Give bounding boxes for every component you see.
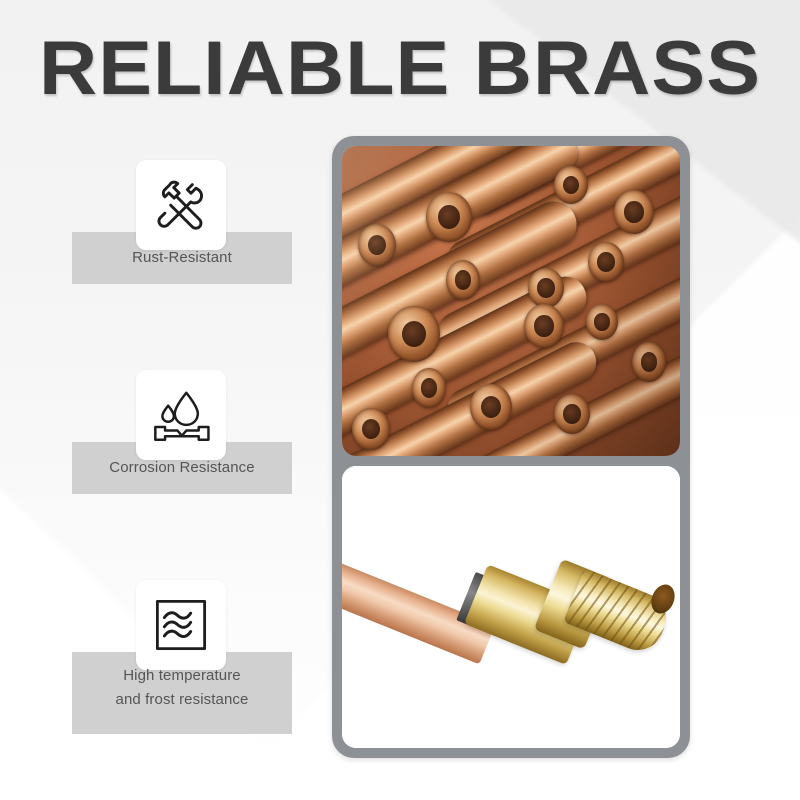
- hammer-wrench-icon: [152, 176, 210, 234]
- feature-icon-tile: [136, 580, 226, 670]
- feature-label-text: High temperature and frost resistance: [72, 664, 292, 712]
- feature-list: Rust-Resistant Corrosio: [0, 150, 320, 750]
- feature-label-text: Rust-Resistant: [72, 246, 292, 270]
- feature-label-line: and frost resistance: [72, 688, 292, 712]
- brass-flare-fitting-photo: Brass flare fitting on copper tube: [342, 466, 680, 748]
- brass-fitting-scene: [342, 466, 680, 748]
- feature-label-line: Corrosion Resistance: [72, 456, 292, 480]
- page-title: RELIABLE BRASS: [0, 28, 800, 110]
- water-drop-on-pipe-icon: [150, 386, 212, 444]
- copper-pipes-scene: [342, 146, 680, 456]
- photo-frame: Stack of copper brass pipes Brass flare …: [332, 136, 690, 758]
- heat-waves-icon: [153, 597, 209, 653]
- feature-icon-tile: [136, 370, 226, 460]
- feature-label-line: High temperature: [72, 664, 292, 688]
- photo-sheen: [342, 146, 680, 456]
- infographic-page: RELIABLE BRASS Rust-Resistan: [0, 0, 800, 800]
- feature-icon-tile: [136, 160, 226, 250]
- feature-label-line: Rust-Resistant: [72, 246, 292, 270]
- feature-label-text: Corrosion Resistance: [72, 456, 292, 480]
- copper-pipes-photo: Stack of copper brass pipes: [342, 146, 680, 456]
